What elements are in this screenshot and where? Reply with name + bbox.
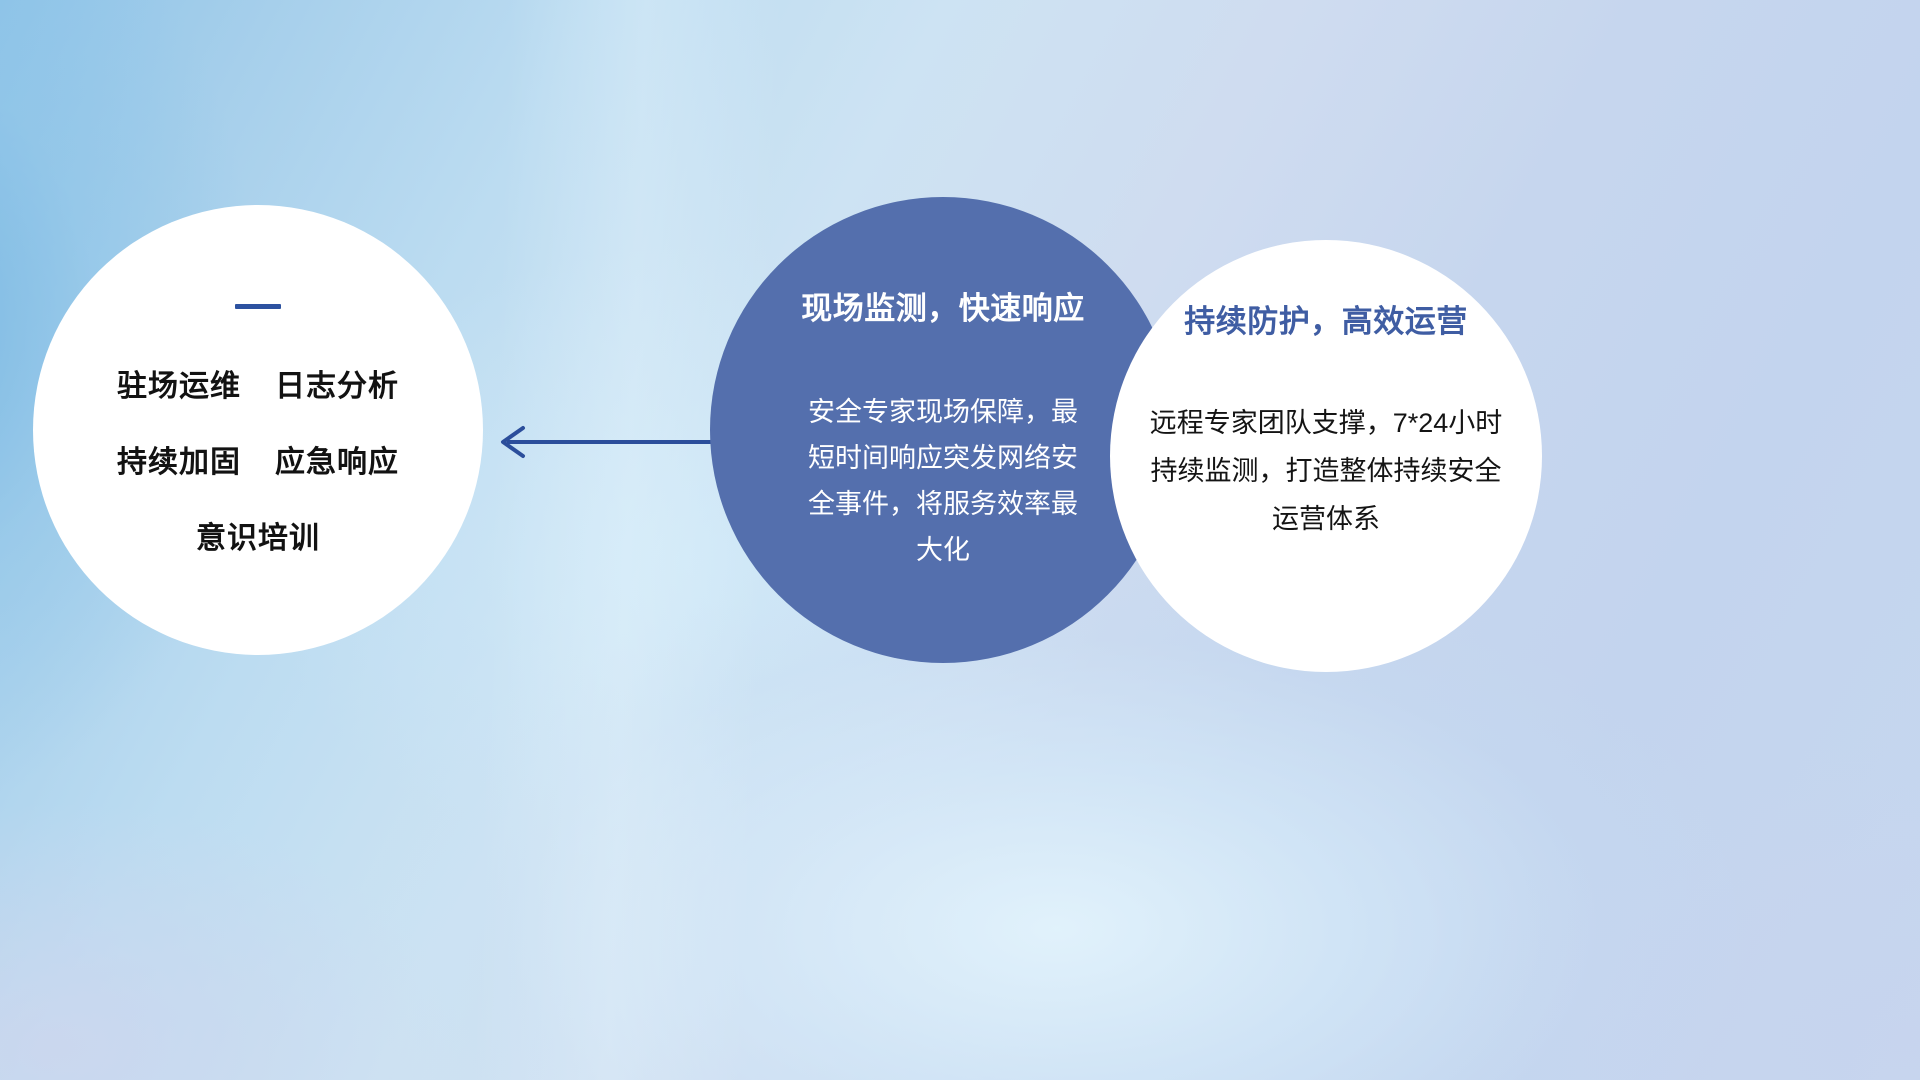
capabilities-row: 意识培训 xyxy=(196,513,320,557)
capability-tag[interactable]: 驻场运维 xyxy=(117,361,241,405)
capabilities-row: 驻场运维 日志分析 xyxy=(117,361,399,405)
capability-tag[interactable]: 持续加固 xyxy=(117,437,241,481)
continuous-circle-title: 持续防护，高效运营 xyxy=(1184,296,1468,341)
onsite-circle-body: 安全专家现场保障，最短时间响应突发网络安全事件，将服务效率最大化 xyxy=(798,389,1088,573)
continuous-operation-circle[interactable]: 持续防护，高效运营 远程专家团队支撑，7*24小时持续监测，打造整体持续安全运营… xyxy=(1110,240,1542,672)
onsite-circle-title: 现场监测，快速响应 xyxy=(801,283,1085,328)
capability-tag[interactable]: 应急响应 xyxy=(275,437,399,481)
continuous-circle-body: 远程专家团队支撑，7*24小时持续监测，打造整体持续安全运营体系 xyxy=(1144,399,1508,543)
capabilities-circle[interactable]: 驻场运维 日志分析 持续加固 应急响应 意识培训 xyxy=(33,205,483,655)
flow-arrow-left-icon xyxy=(485,412,745,472)
capabilities-row: 持续加固 应急响应 xyxy=(117,437,399,481)
capabilities-list: 驻场运维 日志分析 持续加固 应急响应 意识培训 xyxy=(117,361,399,557)
capability-tag[interactable]: 日志分析 xyxy=(275,361,399,405)
onsite-monitoring-circle[interactable]: 现场监测，快速响应 安全专家现场保障，最短时间响应突发网络安全事件，将服务效率最… xyxy=(710,197,1176,663)
capabilities-divider-dash xyxy=(235,304,281,309)
slide-canvas: 驻场运维 日志分析 持续加固 应急响应 意识培训 现场监测，快速响应 安全专家现… xyxy=(0,0,1920,1080)
capability-tag[interactable]: 意识培训 xyxy=(196,513,320,557)
